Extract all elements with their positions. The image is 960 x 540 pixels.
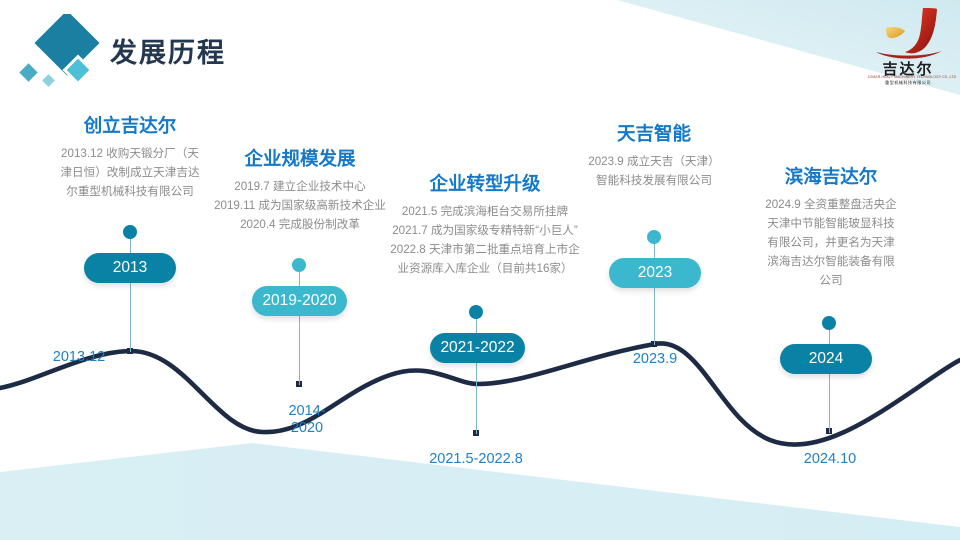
milestone-year-pill[interactable]: 2024	[780, 344, 872, 374]
wave-label-3: 2021.5-2022.8	[427, 450, 525, 468]
milestone-stem	[299, 265, 300, 385]
milestone-body: 2024.9 全资重整盘活央企 天津中节能智能玻显科技 有限公司，并更名为天津 …	[731, 195, 931, 290]
milestone-heading: 滨海吉达尔	[731, 163, 931, 189]
page-title: 发展历程	[110, 31, 226, 70]
milestone-year-pill[interactable]: 2019-2020	[252, 286, 347, 316]
milestone-heading: 创立吉达尔	[22, 112, 238, 138]
milestone-heading: 天吉智能	[543, 120, 765, 146]
milestone-body-line: 业资源库入库企业（目前共16家）	[357, 259, 613, 278]
wave-label-2: 2014-2020	[286, 403, 328, 437]
logo-swoosh-icon	[866, 6, 950, 62]
milestone-node-dot	[123, 225, 137, 239]
milestone-body-line: 2021.5 完成滨海柜台交易所挂牌	[357, 202, 613, 221]
milestone-body-line: 滨海吉达尔智能装备有限	[731, 252, 931, 271]
logo-subtitle: 重型机械科技有限公司	[866, 80, 950, 86]
wave-label-1: 2013.12	[36, 348, 122, 366]
milestone-stem	[130, 232, 131, 352]
milestone-body-line: 有限公司，并更名为天津	[731, 233, 931, 252]
wave-label-5: 2024.10	[790, 450, 870, 468]
milestone-node-dot	[292, 258, 306, 272]
milestone-heading: 企业规模发展	[180, 145, 420, 171]
milestone-stem	[654, 237, 655, 345]
milestone-stem	[476, 312, 477, 434]
company-logo: 吉达尔 JIDAER HEAVY MACHINERY TECHNOLOGY CO…	[866, 6, 950, 88]
milestone-body: 2021.5 完成滨海柜台交易所挂牌 2021.7 成为国家级专精特新“小巨人”…	[357, 202, 613, 278]
wave-label-4: 2023.9	[620, 350, 690, 368]
milestone-body-line: 2021.7 成为国家级专精特新“小巨人”	[357, 221, 613, 240]
milestone-body-line: 公司	[731, 271, 931, 290]
milestone-year-pill[interactable]: 2013	[84, 253, 176, 283]
milestone-node-dot	[647, 230, 661, 244]
logo-name-en: JIDAER HEAVY MACHINERY TECHNOLOGY CO.,LT…	[868, 75, 949, 79]
milestone-node-dot	[822, 316, 836, 330]
milestone-node-dot	[469, 305, 483, 319]
slide-canvas: 发展历程 吉达尔 JIDAER HEAVY MACHINERY TECHNOLO…	[0, 0, 960, 540]
milestone-body-line: 2024.9 全资重整盘活央企	[731, 195, 931, 214]
milestone-year-pill[interactable]: 2021-2022	[430, 333, 525, 363]
milestone-body-line: 天津中节能智能玻显科技	[731, 214, 931, 233]
milestone-year-pill[interactable]: 2023	[609, 258, 701, 288]
milestone-body-line: 2022.8 天津市第二批重点培育上市企	[357, 240, 613, 259]
milestone-stem	[829, 323, 830, 433]
diamond-cluster-icon	[16, 14, 112, 96]
